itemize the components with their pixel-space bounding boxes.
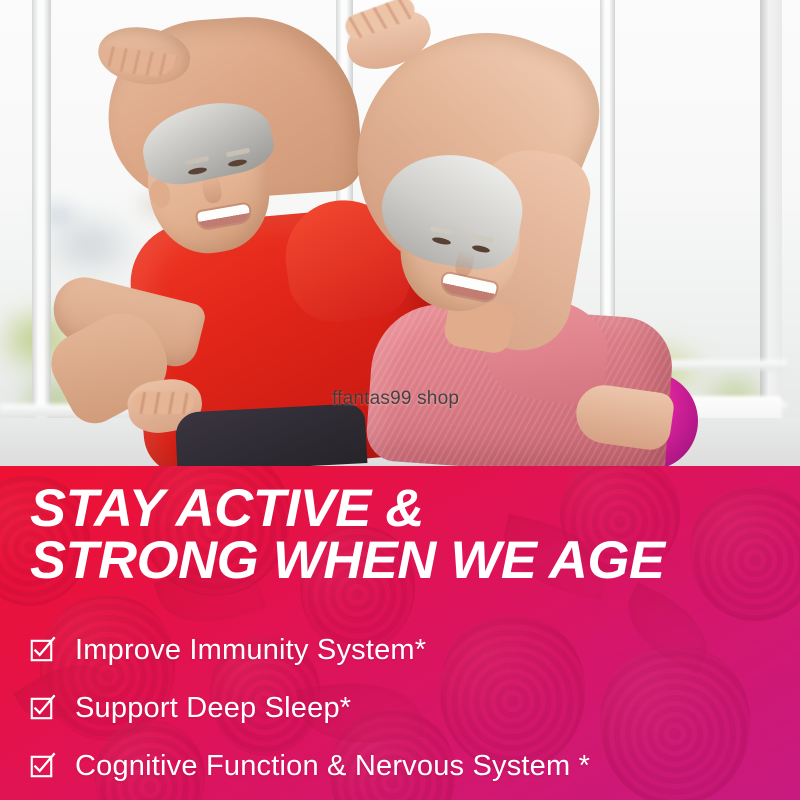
benefit-label: Improve Immunity System*	[75, 634, 426, 667]
promo-banner: STAY ACTIVE & STRONG WHEN WE AGE Improve…	[0, 466, 800, 800]
benefit-label: Cognitive Function & Nervous System *	[75, 750, 590, 783]
headline: STAY ACTIVE & STRONG WHEN WE AGE	[30, 483, 790, 587]
benefit-item: Cognitive Function & Nervous System *	[30, 742, 780, 790]
checkbox-checked-icon	[30, 755, 53, 778]
lifestyle-photo: ffantas99 shop	[0, 0, 800, 466]
checkbox-checked-icon	[30, 697, 53, 720]
man-knuckles	[132, 392, 194, 414]
benefit-item: Improve Immunity System*	[30, 626, 780, 674]
man-shorts	[175, 403, 368, 466]
benefit-item: Support Deep Sleep*	[30, 684, 780, 732]
product-advertisement: ffantas99 shop STAY ACTIVE & STRONG WHEN…	[0, 0, 800, 800]
benefit-label: Support Deep Sleep*	[75, 692, 351, 725]
headline-line-1: STAY ACTIVE &	[30, 483, 790, 535]
checkbox-checked-icon	[30, 639, 53, 662]
headline-line-2: STRONG WHEN WE AGE	[30, 535, 790, 587]
shop-watermark: ffantas99 shop	[332, 388, 459, 410]
benefits-list: Improve Immunity System* Support Deep Sl…	[30, 626, 780, 800]
